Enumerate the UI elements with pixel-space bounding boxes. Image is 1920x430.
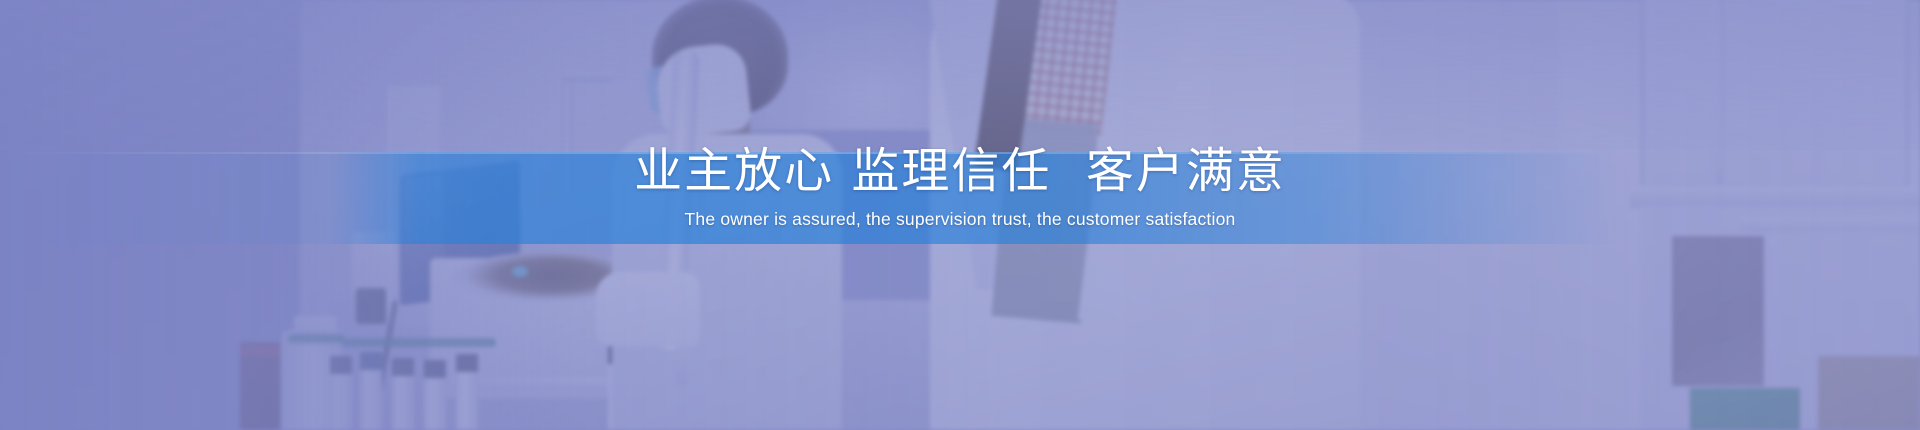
top-gradient-overlay bbox=[0, 0, 1920, 150]
blue-caption-band bbox=[0, 152, 1920, 244]
hero-banner: 业主放心 监理信任 客户满意 The owner is assured, the… bbox=[0, 0, 1920, 430]
band-top-highlight bbox=[0, 152, 1920, 154]
